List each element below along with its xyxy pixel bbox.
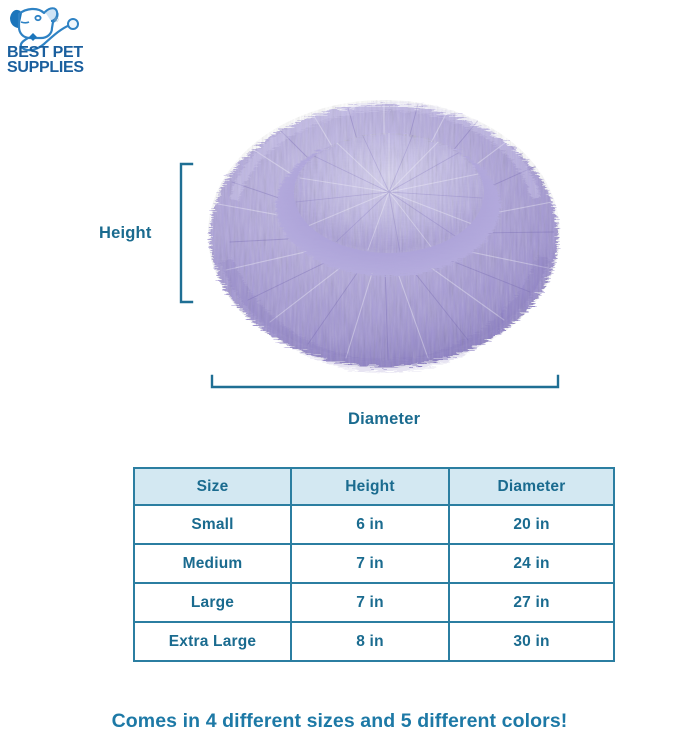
table-header-row: Size Height Diameter bbox=[134, 468, 614, 505]
brand-logo: ® BEST PET SUPPLIES bbox=[6, 4, 98, 76]
product-image bbox=[196, 74, 572, 374]
table-row: Small 6 in 20 in bbox=[134, 505, 614, 544]
cell-size: Large bbox=[134, 583, 291, 622]
height-bracket bbox=[178, 162, 194, 304]
table-row: Extra Large 8 in 30 in bbox=[134, 622, 614, 661]
cell-size: Small bbox=[134, 505, 291, 544]
column-header-height: Height bbox=[291, 468, 449, 505]
column-header-size: Size bbox=[134, 468, 291, 505]
size-chart-table: Size Height Diameter Small 6 in 20 in Me… bbox=[133, 467, 615, 662]
table-row: Medium 7 in 24 in bbox=[134, 544, 614, 583]
cell-diameter: 30 in bbox=[449, 622, 614, 661]
brand-line2: SUPPLIES bbox=[7, 59, 84, 76]
cell-size: Medium bbox=[134, 544, 291, 583]
diameter-bracket bbox=[210, 374, 560, 390]
table-row: Large 7 in 27 in bbox=[134, 583, 614, 622]
dog-logo-icon: ® BEST PET SUPPLIES bbox=[6, 4, 98, 76]
cell-size: Extra Large bbox=[134, 622, 291, 661]
diameter-dimension-label: Diameter bbox=[348, 410, 420, 429]
cell-height: 7 in bbox=[291, 583, 449, 622]
trademark-symbol: ® bbox=[54, 17, 59, 24]
height-dimension-label: Height bbox=[99, 224, 152, 243]
column-header-diameter: Diameter bbox=[449, 468, 614, 505]
cell-height: 6 in bbox=[291, 505, 449, 544]
plush-donut-pet-bed-icon bbox=[196, 74, 572, 374]
cell-height: 8 in bbox=[291, 622, 449, 661]
cell-diameter: 20 in bbox=[449, 505, 614, 544]
cell-diameter: 27 in bbox=[449, 583, 614, 622]
footer-caption: Comes in 4 different sizes and 5 differe… bbox=[0, 710, 679, 733]
cell-diameter: 24 in bbox=[449, 544, 614, 583]
cell-height: 7 in bbox=[291, 544, 449, 583]
